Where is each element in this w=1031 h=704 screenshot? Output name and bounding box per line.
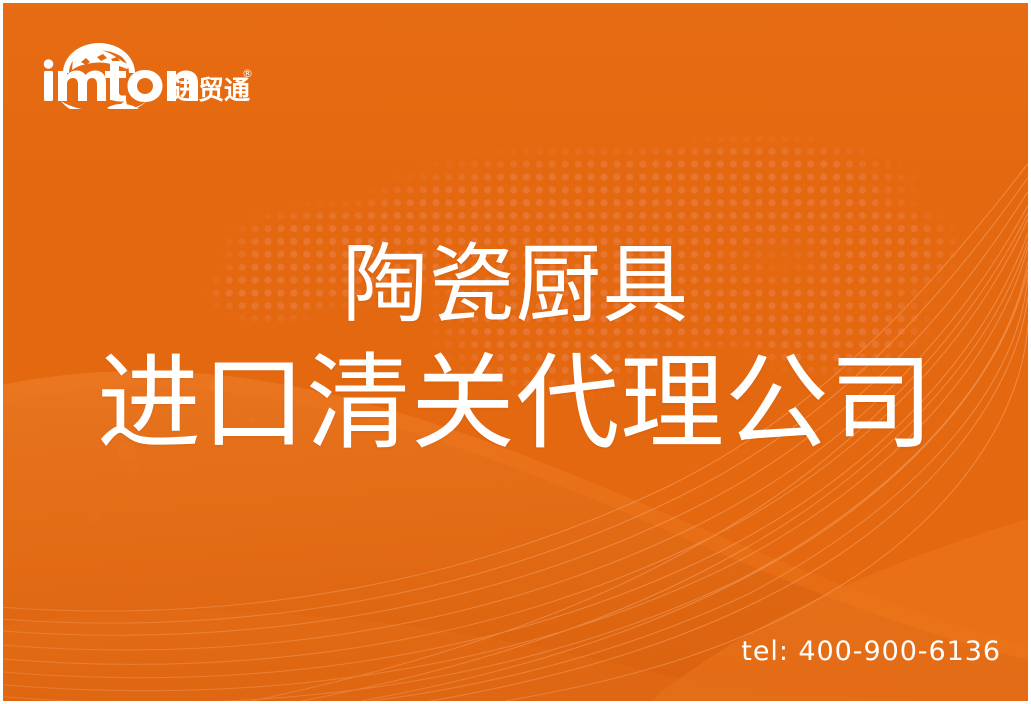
headline-line-2: 进口清关代理公司 [3,342,1028,465]
registered-trademark-icon: ® [242,67,252,80]
headline: 陶瓷厨具 进口清关代理公司 [3,235,1028,465]
logo-chinese-name: 进贸通 [172,76,250,106]
promo-banner: 进贸通 ® 陶瓷厨具 进口清关代理公司 tel: 400-900-6136 [0,0,1031,704]
brand-logo[interactable]: 进贸通 ® [37,31,252,109]
headline-line-1: 陶瓷厨具 [3,235,1028,336]
globe-arc-icon [63,43,135,73]
contact-phone[interactable]: tel: 400-900-6136 [741,636,1001,667]
